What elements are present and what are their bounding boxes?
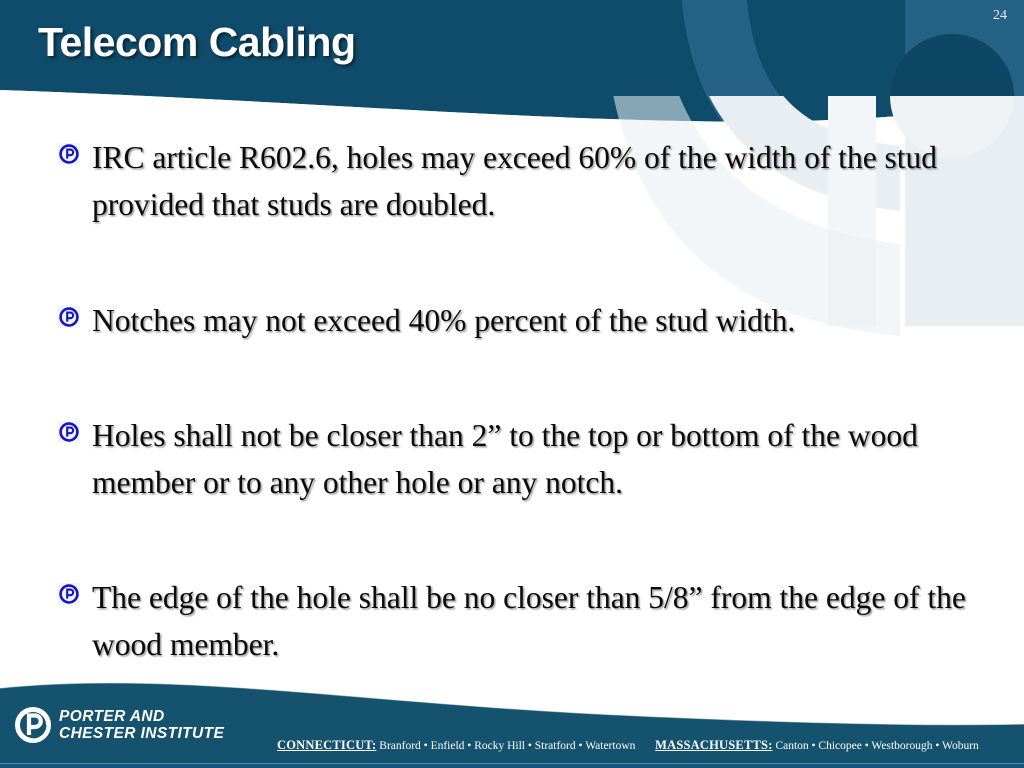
slide: Telecom Cabling 24 xyxy=(0,0,1024,768)
bullet-text: Holes shall not be closer than 2” to the… xyxy=(92,412,1008,507)
footer-brand-text: PORTER AND CHESTER INSTITUTE xyxy=(59,708,224,743)
massachusetts-label: MASSACHUSETTS: xyxy=(655,738,772,752)
porter-chester-logo-icon xyxy=(58,421,80,443)
bullet-item: Holes shall not be closer than 2” to the… xyxy=(58,412,1008,507)
brand-line-1: PORTER AND xyxy=(59,708,165,725)
brand-line-2: CHESTER INSTITUTE xyxy=(59,725,224,742)
porter-chester-logo-icon xyxy=(58,143,80,165)
bullet-item: Notches may not exceed 40% percent of th… xyxy=(58,297,1008,344)
massachusetts-cities: Canton • Chicopee • Westborough • Woburn xyxy=(775,740,978,752)
porter-chester-circle-p-icon xyxy=(14,706,52,744)
bullet-text: Notches may not exceed 40% percent of th… xyxy=(92,297,795,344)
bullet-text: The edge of the hole shall be no closer … xyxy=(92,574,1008,669)
bullet-text: IRC article R602.6, holes may exceed 60%… xyxy=(92,134,1008,229)
porter-chester-logo-icon xyxy=(58,306,80,328)
footer-accent-line xyxy=(0,763,1024,764)
bullet-item: The edge of the hole shall be no closer … xyxy=(58,574,1008,669)
connecticut-label: CONNECTICUT: xyxy=(277,738,376,752)
slide-body: IRC article R602.6, holes may exceed 60%… xyxy=(0,0,1024,768)
slide-footer: PORTER AND CHESTER INSTITUTE xyxy=(0,678,1024,768)
bullet-item: IRC article R602.6, holes may exceed 60%… xyxy=(58,134,1008,229)
porter-chester-logo-icon xyxy=(58,583,80,605)
footer-brand: PORTER AND CHESTER INSTITUTE xyxy=(14,706,224,744)
footer-accent-bar xyxy=(0,764,1024,768)
connecticut-cities: Branford • Enfield • Rocky Hill • Stratf… xyxy=(379,740,635,752)
footer-locations: CONNECTICUT: Branford • Enfield • Rocky … xyxy=(277,738,979,753)
